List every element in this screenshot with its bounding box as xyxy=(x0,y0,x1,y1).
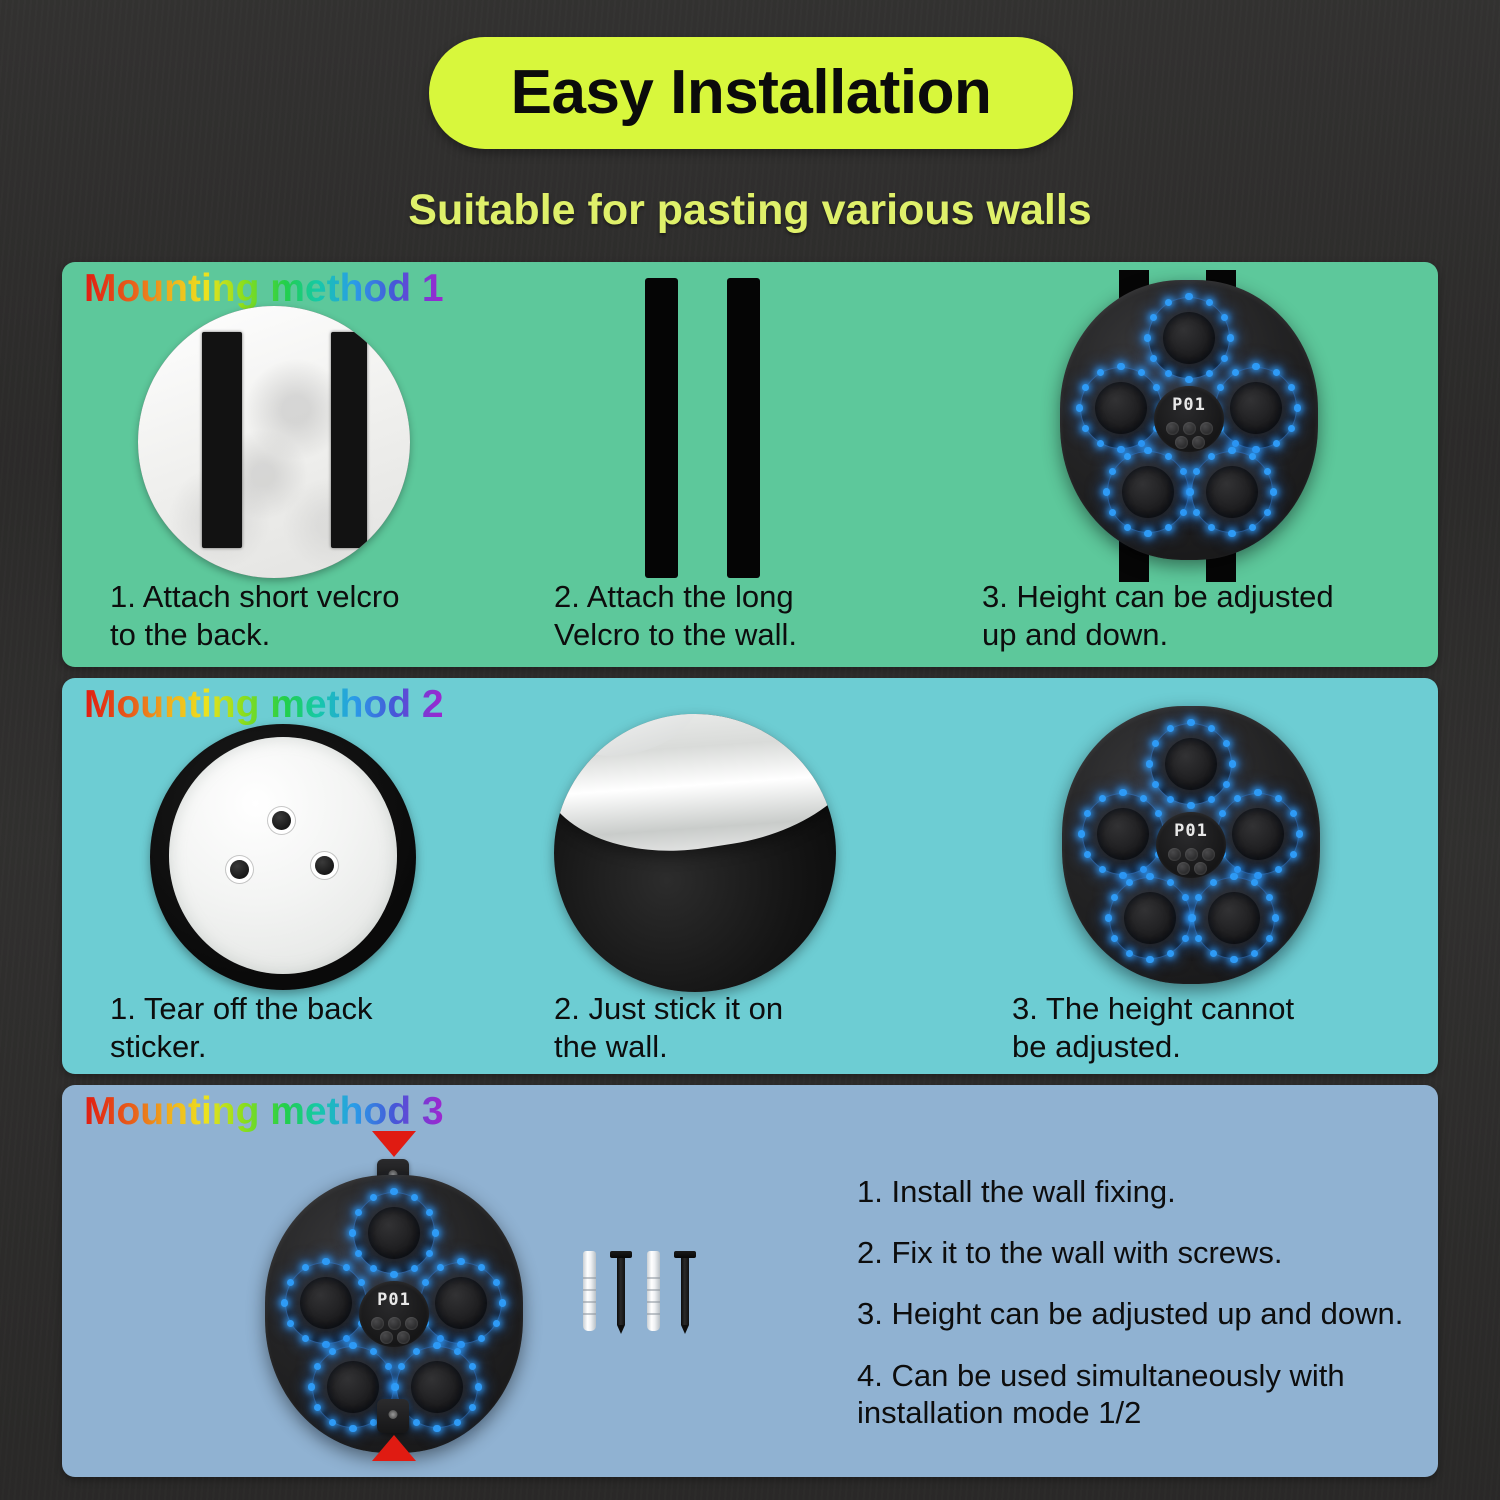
mounting-method-2-heading: Mounting method 2 xyxy=(84,684,444,727)
led-dot xyxy=(1275,795,1282,802)
led-dot xyxy=(302,1264,309,1271)
mount-hole-right xyxy=(315,856,334,875)
led-dot xyxy=(1187,802,1194,809)
led-ring-right-3 xyxy=(416,1258,506,1348)
led-dot xyxy=(1273,440,1280,447)
led-dot xyxy=(1208,524,1215,531)
control-button-2-2[interactable] xyxy=(1185,848,1198,861)
page-title-pill: Easy Installation xyxy=(429,37,1073,149)
led-ring-bottom-left xyxy=(1103,447,1193,537)
led-ring-top-2 xyxy=(1146,719,1236,809)
mounting-method-2-caption-2: 2. Just stick it on the wall. xyxy=(554,990,974,1066)
long-velcro-strip-right xyxy=(727,278,760,578)
target-pad-bottom-right xyxy=(1192,452,1272,532)
control-display-3: P01 xyxy=(359,1281,429,1347)
led-dot xyxy=(411,1194,418,1201)
led-dot xyxy=(1249,524,1256,531)
target-pad-top xyxy=(1149,298,1229,378)
led-dot xyxy=(1290,810,1297,817)
led-dot xyxy=(281,1299,288,1306)
led-dot xyxy=(1254,789,1261,796)
led-ring-track xyxy=(1082,793,1164,875)
led-dot xyxy=(1273,369,1280,376)
led-dot xyxy=(385,1363,392,1370)
led-dot xyxy=(1126,950,1133,957)
boxing-machine-device-2: P01 xyxy=(1062,706,1320,984)
led-dot xyxy=(1182,894,1189,901)
mounting-method-2-caption-1: 1. Tear off the back sticker. xyxy=(110,990,530,1066)
anchor-rib xyxy=(647,1301,660,1303)
led-dot xyxy=(1229,760,1236,767)
infographic-page: Easy Installation Suitable for pasting v… xyxy=(0,0,1500,1500)
led-dot xyxy=(1234,795,1241,802)
led-dot xyxy=(1111,894,1118,901)
sticker-disc-image xyxy=(150,724,416,990)
led-dot xyxy=(1187,488,1194,495)
short-velcro-strip-left xyxy=(202,332,242,548)
led-dot xyxy=(390,1271,397,1278)
led-dot xyxy=(1232,440,1239,447)
led-dot xyxy=(390,1188,397,1195)
led-dot xyxy=(413,1419,420,1426)
led-dot xyxy=(433,1342,440,1349)
anchor-rib xyxy=(583,1277,596,1279)
led-dot xyxy=(314,1363,321,1370)
led-dot xyxy=(1119,789,1126,796)
led-dot xyxy=(1217,384,1224,391)
control-display-2: P01 xyxy=(1156,812,1226,878)
led-dot xyxy=(1165,453,1172,460)
mount-hole-left xyxy=(230,860,249,879)
led-dot xyxy=(1223,740,1230,747)
target-pad-right-2 xyxy=(1218,794,1298,874)
led-dot xyxy=(1221,314,1228,321)
page-title: Easy Installation xyxy=(511,62,992,124)
led-dot xyxy=(1140,795,1147,802)
led-dot xyxy=(1124,524,1131,531)
led-dot xyxy=(1119,872,1126,879)
led-dot xyxy=(469,1363,476,1370)
led-dot xyxy=(411,1265,418,1272)
led-ring-bottom-left-2 xyxy=(1105,873,1195,963)
led-dot xyxy=(1275,866,1282,873)
led-dot xyxy=(1230,873,1237,880)
mounting-method-2-panel: Mounting method 2 xyxy=(62,678,1438,1074)
control-button-4-2[interactable] xyxy=(1177,862,1190,875)
led-dot xyxy=(1219,810,1226,817)
step-item-4: 4. Can be used simultaneously with insta… xyxy=(857,1357,1438,1431)
boxing-machine-device: P01 xyxy=(1060,280,1318,560)
back-disc-with-velcro-image xyxy=(138,306,410,578)
machine-on-straps-image: P01 xyxy=(1022,262,1402,582)
led-dot xyxy=(1103,488,1110,495)
led-dot xyxy=(1193,509,1200,516)
machine-with-brackets-image: P01 xyxy=(257,1131,597,1461)
led-ring-track xyxy=(420,1262,502,1344)
led-dot xyxy=(1251,879,1258,886)
control-button-5-2[interactable] xyxy=(1194,862,1207,875)
led-ring-top xyxy=(1144,293,1234,383)
led-ring-track xyxy=(1150,723,1232,805)
led-dot xyxy=(1146,956,1153,963)
led-dot xyxy=(398,1363,405,1370)
wall-anchor-2 xyxy=(647,1251,660,1331)
led-dot xyxy=(478,1335,485,1342)
led-dot xyxy=(1167,725,1174,732)
display-code-3: P01 xyxy=(359,1290,429,1310)
led-dot xyxy=(1296,830,1303,837)
mounting-method-1-caption-3: 3. Height can be adjusted up and down. xyxy=(982,578,1438,654)
led-ring-track xyxy=(1148,297,1230,379)
arrow-down-icon xyxy=(372,1131,416,1157)
control-button-2-3[interactable] xyxy=(388,1317,401,1330)
led-dot xyxy=(1165,370,1172,377)
led-ring-track xyxy=(285,1262,367,1344)
led-dot xyxy=(322,1258,329,1265)
led-dot xyxy=(1288,425,1295,432)
led-dot xyxy=(1206,299,1213,306)
led-dot xyxy=(457,1258,464,1265)
led-dot xyxy=(1144,530,1151,537)
target-pad-bottom-right-3 xyxy=(397,1347,477,1427)
led-ring-left-2 xyxy=(1078,789,1168,879)
led-dot xyxy=(1294,404,1301,411)
led-dot xyxy=(493,1279,500,1286)
led-dot xyxy=(1140,866,1147,873)
led-dot xyxy=(422,1279,429,1286)
led-dot xyxy=(437,1335,444,1342)
led-dot xyxy=(308,1383,315,1390)
mounting-method-3-heading: Mounting method 3 xyxy=(84,1091,444,1134)
led-dot xyxy=(454,1348,461,1355)
target-pad-bottom-right-2 xyxy=(1194,878,1274,958)
mounting-method-1-heading: Mounting method 1 xyxy=(84,268,444,311)
display-code-2: P01 xyxy=(1156,821,1226,841)
led-ring-track xyxy=(1107,451,1189,533)
led-ring-bottom-right-2 xyxy=(1189,873,1279,963)
control-display: P01 xyxy=(1154,386,1224,452)
led-dot xyxy=(1117,446,1124,453)
led-dot xyxy=(1180,509,1187,516)
led-dot xyxy=(1230,956,1237,963)
anchor-rib xyxy=(647,1313,660,1315)
led-ring-track xyxy=(1109,877,1191,959)
led-dot xyxy=(1208,725,1215,732)
led-dot xyxy=(1185,293,1192,300)
led-dot xyxy=(1138,369,1145,376)
peeling-adhesive-disc-image xyxy=(554,714,836,992)
led-dot xyxy=(1126,879,1133,886)
wall-anchor-1 xyxy=(583,1251,596,1331)
led-dot xyxy=(1165,299,1172,306)
led-dot xyxy=(329,1348,336,1355)
led-dot xyxy=(343,1264,350,1271)
led-dot xyxy=(302,1335,309,1342)
led-dot xyxy=(1270,488,1277,495)
target-pad-left-2 xyxy=(1083,794,1163,874)
long-velcro-strip-left xyxy=(645,278,678,578)
led-dot xyxy=(1146,873,1153,880)
led-dot xyxy=(1150,355,1157,362)
led-dot xyxy=(437,1264,444,1271)
step-item-1: 1. Install the wall fixing. xyxy=(857,1173,1438,1210)
led-ring-right-2 xyxy=(1213,789,1303,879)
led-dot xyxy=(1084,810,1091,817)
led-dot xyxy=(349,1425,356,1432)
led-dot xyxy=(1208,453,1215,460)
led-dot xyxy=(1097,369,1104,376)
led-dot xyxy=(413,1348,420,1355)
led-ring-right xyxy=(1211,363,1301,453)
led-ring-track xyxy=(1217,793,1299,875)
led-dot xyxy=(1195,894,1202,901)
led-dot xyxy=(370,1194,377,1201)
led-ring-track xyxy=(1191,451,1273,533)
mounting-method-1-panel: Mounting method 1 xyxy=(62,262,1438,667)
led-dot xyxy=(322,1341,329,1348)
led-dot xyxy=(433,1425,440,1432)
led-dot xyxy=(475,1383,482,1390)
led-dot xyxy=(1167,879,1174,886)
target-pad-top-2 xyxy=(1151,724,1231,804)
led-ring-track xyxy=(1193,877,1275,959)
bottom-mounting-bracket xyxy=(377,1399,409,1433)
led-ring-track xyxy=(1215,367,1297,449)
page-subtitle: Suitable for pasting various walls xyxy=(0,186,1500,235)
led-dot xyxy=(432,1229,439,1236)
led-dot xyxy=(1249,453,1256,460)
led-dot xyxy=(1099,866,1106,873)
led-dot xyxy=(1082,384,1089,391)
led-dot xyxy=(1288,384,1295,391)
target-pad-left-3 xyxy=(286,1263,366,1343)
led-dot xyxy=(1223,781,1230,788)
display-code: P01 xyxy=(1154,395,1224,415)
led-dot xyxy=(1117,363,1124,370)
disc-surface-texture xyxy=(138,306,410,578)
led-dot xyxy=(1252,363,1259,370)
led-dot xyxy=(1189,914,1196,921)
led-dot xyxy=(1144,447,1151,454)
target-pad-bottom-left-2 xyxy=(1110,878,1190,958)
led-dot xyxy=(1234,866,1241,873)
mounting-method-3-panel: Mounting method 3 xyxy=(62,1085,1438,1477)
control-button-4-3[interactable] xyxy=(380,1331,393,1344)
step-item-2: 2. Fix it to the wall with screws. xyxy=(857,1234,1438,1271)
led-dot xyxy=(1078,830,1085,837)
led-dot xyxy=(314,1404,321,1411)
led-ring-top-3 xyxy=(349,1188,439,1278)
led-dot xyxy=(1228,447,1235,454)
led-dot xyxy=(1272,914,1279,921)
control-button-2[interactable] xyxy=(1183,422,1196,435)
led-dot xyxy=(370,1348,377,1355)
led-dot xyxy=(1221,355,1228,362)
led-dot xyxy=(1180,468,1187,475)
led-dot xyxy=(343,1335,350,1342)
anchor-rib xyxy=(583,1289,596,1291)
led-dot xyxy=(469,1404,476,1411)
led-dot xyxy=(493,1320,500,1327)
arrow-up-icon xyxy=(372,1435,416,1461)
led-dot xyxy=(1264,509,1271,516)
anchor-rib xyxy=(647,1277,660,1279)
target-pad-left xyxy=(1081,368,1161,448)
led-dot xyxy=(1185,376,1192,383)
led-dot xyxy=(349,1229,356,1236)
led-dot xyxy=(1210,879,1217,886)
led-dot xyxy=(370,1265,377,1272)
control-button-1-2[interactable] xyxy=(1168,848,1181,861)
led-dot xyxy=(392,1383,399,1390)
led-ring-left-3 xyxy=(281,1258,371,1348)
led-dot xyxy=(1109,468,1116,475)
led-dot xyxy=(355,1209,362,1216)
led-dot xyxy=(1266,894,1273,901)
led-dot xyxy=(1138,440,1145,447)
led-dot xyxy=(1210,950,1217,957)
led-dot xyxy=(329,1419,336,1426)
led-dot xyxy=(1111,935,1118,942)
control-button-3-3[interactable] xyxy=(405,1317,418,1330)
led-dot xyxy=(1082,425,1089,432)
anchor-rib xyxy=(583,1313,596,1315)
led-dot xyxy=(1097,440,1104,447)
led-dot xyxy=(1206,370,1213,377)
led-dot xyxy=(454,1419,461,1426)
led-ring-track xyxy=(353,1192,435,1274)
mounting-method-1-caption-1: 1. Attach short velcro to the back. xyxy=(110,578,530,654)
led-ring-bottom-right xyxy=(1187,447,1277,537)
led-dot xyxy=(1227,334,1234,341)
control-button-1-3[interactable] xyxy=(371,1317,384,1330)
control-button-4[interactable] xyxy=(1175,436,1188,449)
led-dot xyxy=(1167,796,1174,803)
led-ring-track xyxy=(1080,367,1162,449)
led-dot xyxy=(1150,314,1157,321)
control-button-5[interactable] xyxy=(1192,436,1205,449)
led-dot xyxy=(1187,719,1194,726)
led-dot xyxy=(1165,524,1172,531)
led-dot xyxy=(358,1279,365,1286)
led-dot xyxy=(1152,740,1159,747)
led-dot xyxy=(1153,384,1160,391)
led-dot xyxy=(349,1342,356,1349)
led-dot xyxy=(287,1279,294,1286)
step-item-3: 3. Height can be adjusted up and down. xyxy=(857,1295,1438,1332)
screw-tip xyxy=(681,1325,689,1334)
screw-1 xyxy=(617,1251,625,1325)
screw-head xyxy=(610,1251,632,1258)
led-dot xyxy=(1152,781,1159,788)
led-dot xyxy=(478,1264,485,1271)
led-dot xyxy=(1182,935,1189,942)
led-dot xyxy=(1251,950,1258,957)
led-dot xyxy=(1232,369,1239,376)
led-dot xyxy=(355,1250,362,1257)
anchor-rib xyxy=(647,1289,660,1291)
led-dot xyxy=(1109,509,1116,516)
led-dot xyxy=(1076,404,1083,411)
led-dot xyxy=(426,1209,433,1216)
led-ring-left xyxy=(1076,363,1166,453)
led-dot xyxy=(1144,334,1151,341)
screw-tip xyxy=(617,1325,625,1334)
led-dot xyxy=(1099,795,1106,802)
led-dot xyxy=(287,1320,294,1327)
led-dot xyxy=(499,1299,506,1306)
control-button-5-3[interactable] xyxy=(397,1331,410,1344)
mounting-method-1-caption-2: 2. Attach the long Velcro to the wall. xyxy=(554,578,974,654)
led-dot xyxy=(1195,935,1202,942)
mount-hole-top xyxy=(272,811,291,830)
bracket-screw-hole-bottom xyxy=(389,1410,398,1419)
led-dot xyxy=(1105,914,1112,921)
target-pad-right-3 xyxy=(421,1263,501,1343)
led-dot xyxy=(1228,530,1235,537)
control-button-3-2[interactable] xyxy=(1202,848,1215,861)
led-dot xyxy=(1264,468,1271,475)
control-button-1[interactable] xyxy=(1166,422,1179,435)
control-button-3[interactable] xyxy=(1200,422,1213,435)
target-pad-top-3 xyxy=(354,1193,434,1273)
wall-anchors-and-screws-image xyxy=(575,1245,705,1355)
led-dot xyxy=(1266,935,1273,942)
led-dot xyxy=(1146,760,1153,767)
mounting-method-3-steps-list: 1. Install the wall fixing. 2. Fix it to… xyxy=(857,1173,1438,1455)
sticker-face xyxy=(169,737,398,974)
short-velcro-strip-right xyxy=(331,332,367,548)
led-dot xyxy=(426,1250,433,1257)
led-dot xyxy=(1193,468,1200,475)
long-velcro-strips-image xyxy=(637,278,837,583)
mounting-method-2-caption-3: 3. The height cannot be adjusted. xyxy=(1012,990,1438,1066)
target-pad-right xyxy=(1216,368,1296,448)
led-dot xyxy=(1208,796,1215,803)
target-pad-bottom-left xyxy=(1108,452,1188,532)
screw-2 xyxy=(681,1251,689,1325)
led-dot xyxy=(1290,851,1297,858)
led-dot xyxy=(1084,851,1091,858)
led-dot xyxy=(1167,950,1174,957)
led-dot xyxy=(1124,453,1131,460)
led-dot xyxy=(1155,810,1162,817)
anchor-rib xyxy=(583,1301,596,1303)
screw-head xyxy=(674,1251,696,1258)
